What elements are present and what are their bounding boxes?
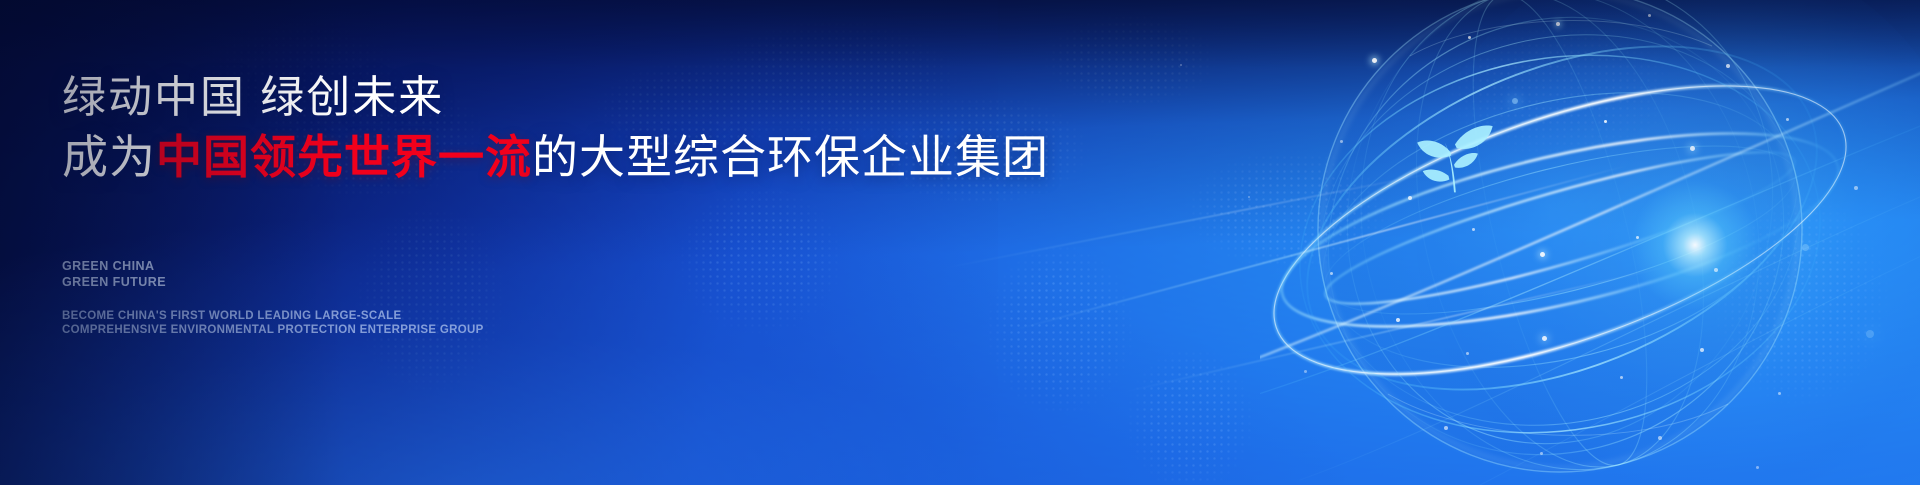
hero-banner: 绿动中国 绿创未来 成为中国领先世界一流的大型综合环保企业集团 GREEN CH…: [0, 0, 1920, 485]
banner-copy: 绿动中国 绿创未来 成为中国领先世界一流的大型综合环保企业集团 GREEN CH…: [62, 0, 1112, 485]
subtitle-english: GREEN CHINA GREEN FUTURE: [62, 258, 166, 290]
tagline-english: BECOME CHINA'S FIRST WORLD LEADING LARGE…: [62, 309, 484, 338]
headline-prefix: 成为: [62, 131, 156, 183]
headline-line-2: 成为中国领先世界一流的大型综合环保企业集团: [62, 134, 1049, 180]
headline-line-1: 绿动中国 绿创未来: [62, 76, 444, 120]
headline-suffix: 的大型综合环保企业集团: [532, 131, 1049, 183]
headline-highlight: 中国领先世界一流: [156, 131, 532, 183]
